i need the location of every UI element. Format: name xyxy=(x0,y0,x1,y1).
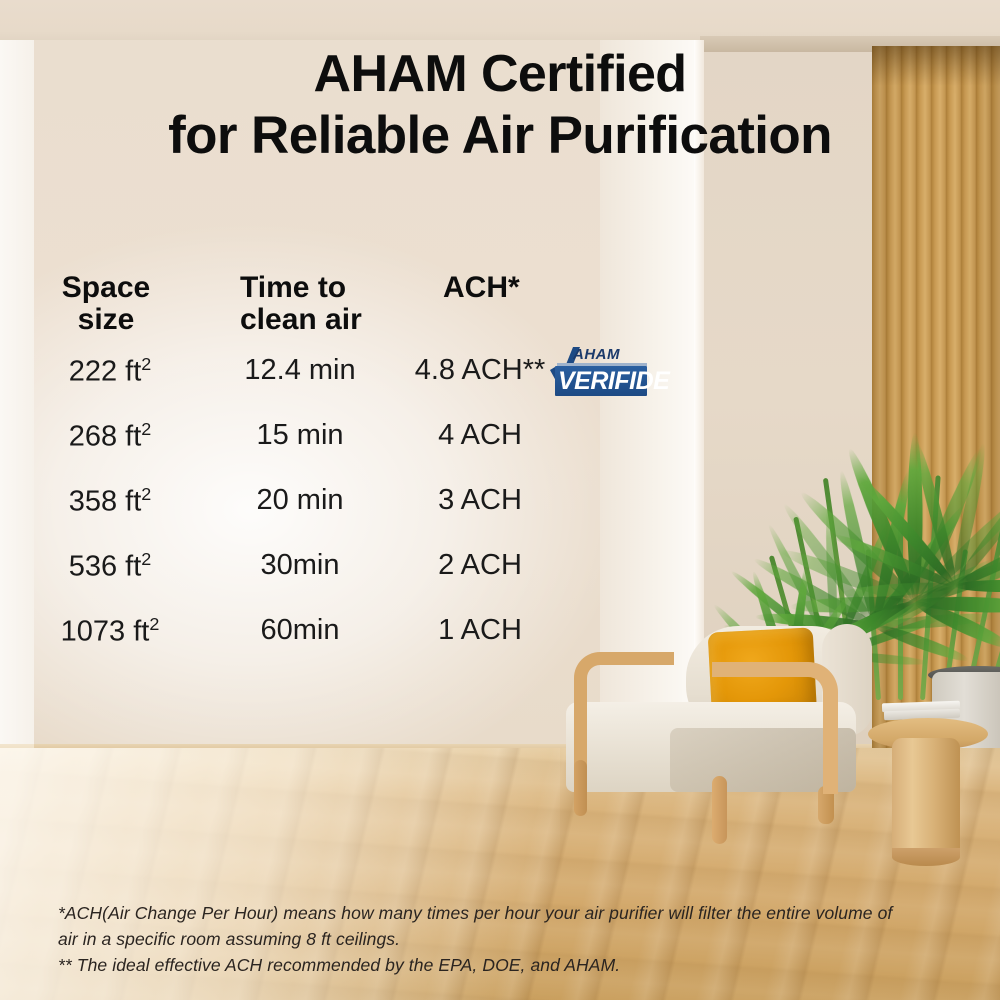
superscript-two: 2 xyxy=(141,354,151,374)
header-time-line1: Time to xyxy=(240,271,346,304)
footnote-line-3: ** The ideal effective ACH recommended b… xyxy=(58,955,958,976)
side-table xyxy=(868,718,988,870)
table-header-row: Space size Time to clean air ACH* xyxy=(0,272,1000,354)
chair-right-arm xyxy=(712,662,838,794)
headline-line-1: AHAM Certified xyxy=(314,45,687,103)
side-table-pedestal xyxy=(892,738,960,864)
ach-spec-table: Space size Time to clean air ACH* 222 ft… xyxy=(0,272,1000,679)
cell-time-to-clean: 30min xyxy=(200,549,400,582)
table-row: 536 ft2 30min 2 ACH xyxy=(0,549,1000,614)
superscript-two: 2 xyxy=(141,484,151,504)
table-row: 222 ft2 12.4 min 4.8 ACH** xyxy=(0,354,1000,419)
chair-left-front-leg xyxy=(574,760,587,816)
product-infographic: AHAM Certified for Reliable Air Purifica… xyxy=(0,0,1000,1000)
side-table-pedestal-base xyxy=(892,848,960,866)
table-row: 268 ft2 15 min 4 ACH xyxy=(0,419,1000,484)
superscript-two: 2 xyxy=(149,614,159,634)
column-header-time-to-clean-air: Time to clean air xyxy=(240,272,362,337)
column-header-ach: ACH* xyxy=(443,272,520,304)
cell-ach: 3 ACH xyxy=(390,484,570,517)
column-header-space-size: Space size xyxy=(58,272,154,337)
cell-ach: 4 ACH xyxy=(390,419,570,452)
chair-right-front-leg xyxy=(712,776,727,844)
cell-time-to-clean: 20 min xyxy=(200,484,400,517)
footnote-line-1: *ACH(Air Change Per Hour) means how many… xyxy=(58,903,958,924)
superscript-two: 2 xyxy=(141,419,151,439)
cell-time-to-clean: 60min xyxy=(200,614,400,647)
table-row: 1073 ft2 60min 1 ACH xyxy=(0,614,1000,679)
footnote-line-2: air in a specific room assuming 8 ft cei… xyxy=(58,929,958,950)
aham-verifide-badge: AHAM VERIFIDE xyxy=(547,344,647,400)
cell-space-size: 536 ft2 xyxy=(0,549,220,584)
cell-time-to-clean: 12.4 min xyxy=(200,354,400,387)
cell-space-size: 222 ft2 xyxy=(0,354,220,389)
badge-label-text: VERIFIDE xyxy=(558,367,669,395)
table-row: 358 ft2 20 min 3 ACH xyxy=(0,484,1000,549)
header-space-line1: Space xyxy=(62,271,150,304)
header-space-line2: size xyxy=(78,303,135,336)
cell-space-size: 1073 ft2 xyxy=(0,614,220,649)
headline-line-2: for Reliable Air Purification xyxy=(0,105,1000,168)
cell-space-size: 268 ft2 xyxy=(0,419,220,454)
superscript-two: 2 xyxy=(141,549,151,569)
page-title: AHAM Certified for Reliable Air Purifica… xyxy=(0,44,1000,168)
cell-ach: 1 ACH xyxy=(390,614,570,647)
cell-ach: 2 ACH xyxy=(390,549,570,582)
cell-ach: 4.8 ACH** xyxy=(390,354,570,387)
badge-brand-text: AHAM xyxy=(573,346,620,363)
cell-time-to-clean: 15 min xyxy=(200,419,400,452)
cell-space-size: 358 ft2 xyxy=(0,484,220,519)
header-time-line2: clean air xyxy=(240,303,362,336)
